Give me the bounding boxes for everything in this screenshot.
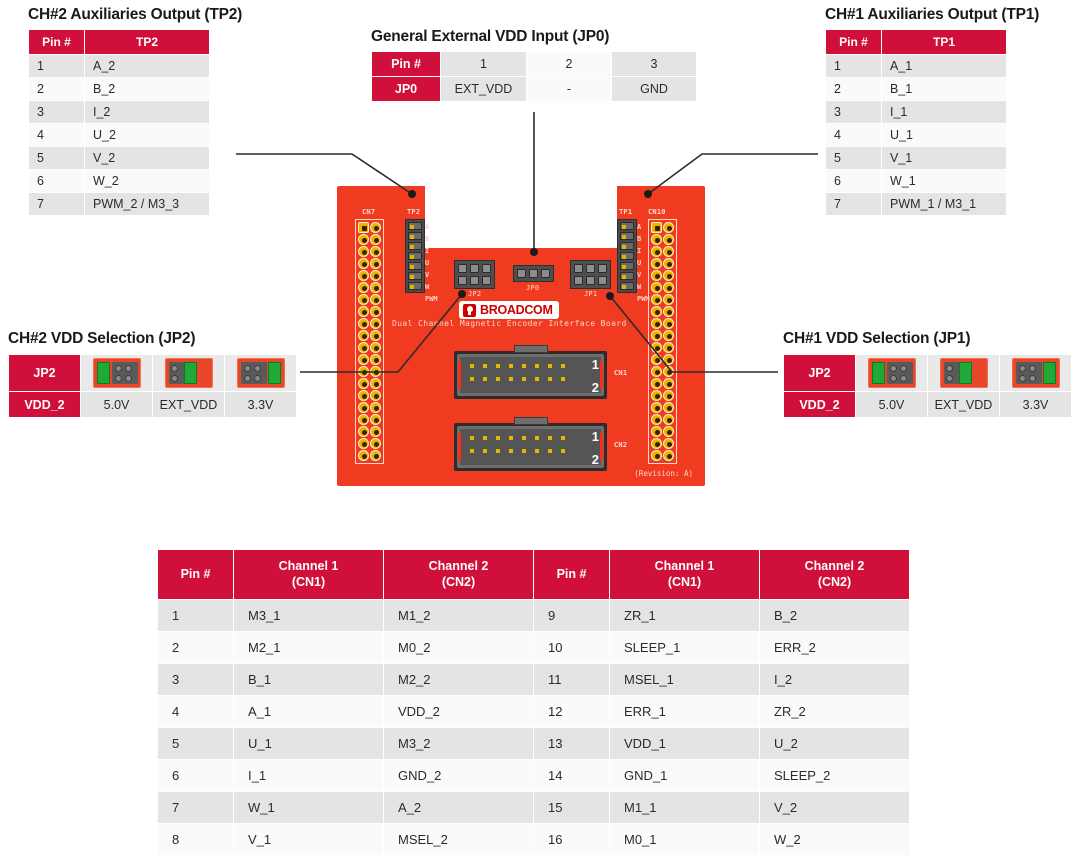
cell-cn1-left: A_1 <box>234 696 384 728</box>
jp2-header <box>454 260 495 289</box>
cell-pin-left: 1 <box>158 600 234 632</box>
col-header-tp2: TP2 <box>85 30 210 55</box>
test-pin <box>620 232 634 240</box>
table-row: 3I_2 <box>29 101 210 124</box>
pin-hole <box>358 438 369 449</box>
pin-hole <box>663 378 674 389</box>
broadcom-wordmark: BROADCOM <box>480 303 553 317</box>
tp1-pin-label: A <box>637 221 650 233</box>
pin <box>548 449 552 453</box>
cell-cn1-left: V_1 <box>234 824 384 856</box>
pin-hole <box>370 330 381 341</box>
jp0-value-row: JP0 EXT_VDD - GND <box>372 77 697 102</box>
pin-hole <box>358 426 369 437</box>
jumper-pin <box>586 264 595 273</box>
pin-hole <box>358 450 369 461</box>
cell-pin-left: 8 <box>158 824 234 856</box>
cell-signal: U_2 <box>85 124 210 147</box>
pin-hole <box>370 294 381 305</box>
header-line2: (CN1) <box>668 575 701 589</box>
ch1-jumper-cell-5v <box>856 355 928 392</box>
table-row: 4 A_1 VDD_2 12 ERR_1 ZR_2 <box>158 696 910 728</box>
jumper-pads <box>241 362 267 384</box>
pin <box>548 364 552 368</box>
ch1-vdd-title: CH#1 VDD Selection (JP1) <box>783 330 1072 348</box>
jumper-pin <box>574 264 583 273</box>
cell-pin: 2 <box>29 78 85 101</box>
pin-hole <box>663 306 674 317</box>
jumper-extvdd-icon <box>165 358 213 388</box>
jp0-pin-row: Pin # 1 2 3 <box>372 52 697 77</box>
cn1-row1-mark: 1 <box>592 357 599 372</box>
pin-hole <box>651 294 662 305</box>
pad <box>125 365 132 372</box>
table-row: 4U_2 <box>29 124 210 147</box>
pin <box>496 436 500 440</box>
table-row: 1A_2 <box>29 55 210 78</box>
col-header-ch1-cn1-left: Channel 1 (CN1) <box>234 550 384 600</box>
pin-hole <box>370 222 381 233</box>
cell-pin-left: 7 <box>158 792 234 824</box>
header-line2: (CN2) <box>442 575 475 589</box>
pin-hole <box>370 342 381 353</box>
pad <box>900 365 907 372</box>
test-pin <box>408 232 422 240</box>
pin-hole <box>663 414 674 425</box>
jumper-pin <box>470 276 479 285</box>
cell-pin: 5 <box>29 147 85 170</box>
cell-cn2-right: B_2 <box>760 600 910 632</box>
silk-label-jp2: JP2 <box>468 290 481 298</box>
cell-pin-right: 14 <box>534 760 610 792</box>
pin-hole <box>370 402 381 413</box>
pin-hole <box>651 222 662 233</box>
pin-hole <box>663 318 674 329</box>
pin-hole <box>358 414 369 425</box>
col-header-ch2-cn2-left: Channel 2 (CN2) <box>384 550 534 600</box>
test-pin <box>620 262 634 270</box>
pin-hole <box>663 246 674 257</box>
ch1-jumper-cell-extvdd <box>928 355 1000 392</box>
table-row: 6 I_1 GND_2 14 GND_1 SLEEP_2 <box>158 760 910 792</box>
col-header-tp1: TP1 <box>882 30 1007 55</box>
pin-hole <box>370 318 381 329</box>
pin-hole <box>370 282 381 293</box>
table-row: 2B_2 <box>29 78 210 101</box>
table-header-row: Pin # Channel 1 (CN1) Channel 2 (CN2) Pi… <box>158 550 910 600</box>
table-row: 7PWM_1 / M3_1 <box>826 193 1007 216</box>
pin <box>561 436 565 440</box>
cell-cn1-left: W_1 <box>234 792 384 824</box>
jumper-shunt <box>184 362 197 384</box>
cell-pin-left: 4 <box>158 696 234 728</box>
cn1-connector: 1 2 <box>454 351 607 399</box>
pin-hole <box>358 342 369 353</box>
pin1-marker <box>458 361 461 389</box>
pin <box>483 364 487 368</box>
cell-cn1-right: ERR_1 <box>610 696 760 728</box>
pin-hole <box>358 402 369 413</box>
cell-pin-left: 2 <box>158 632 234 664</box>
pin-hole <box>370 378 381 389</box>
ch2-vdd-label-row: VDD_2 5.0V EXT_VDD 3.3V <box>9 392 297 418</box>
ch2-vdd-selection-block: CH#2 VDD Selection (JP2) JP2 <box>8 330 297 418</box>
jp1-header <box>570 260 611 289</box>
pin <box>496 449 500 453</box>
jumper-33v-icon <box>1012 358 1060 388</box>
silk-label-tp2: TP2 <box>407 208 420 216</box>
pin-hole <box>663 222 674 233</box>
pin <box>470 449 474 453</box>
ch1-vdd-selection-block: CH#1 VDD Selection (JP1) JP2 <box>783 330 1072 418</box>
test-pin <box>408 262 422 270</box>
cn2-pin-grid <box>466 432 570 458</box>
pin <box>535 364 539 368</box>
col-header-ch2-cn2-right: Channel 2 (CN2) <box>760 550 910 600</box>
cell-cn2-right: U_2 <box>760 728 910 760</box>
table-row: 8 V_1 MSEL_2 16 M0_1 W_2 <box>158 824 910 856</box>
cell-pin: 7 <box>826 193 882 216</box>
pin-hole <box>651 270 662 281</box>
pin-hole <box>358 306 369 317</box>
ch2-vdd-table: JP2 <box>8 354 297 418</box>
table-row: 5V_1 <box>826 147 1007 170</box>
pin-hole <box>663 450 674 461</box>
tp2-pin-label: I <box>425 245 438 257</box>
pad <box>125 375 132 382</box>
test-pin <box>408 272 422 280</box>
pin <box>522 436 526 440</box>
jp0-pin-2: 2 <box>527 52 612 77</box>
table-row: 7 W_1 A_2 15 M1_1 V_2 <box>158 792 910 824</box>
header-line1: Channel 2 <box>805 559 865 573</box>
ch2-jumper-cell-33v <box>225 355 297 392</box>
cell-signal: I_2 <box>85 101 210 124</box>
pin-hole <box>370 306 381 317</box>
silk-label-cn2: CN2 <box>614 441 627 449</box>
cell-cn1-left: M2_1 <box>234 632 384 664</box>
pin-hole <box>651 246 662 257</box>
board-revision: (Revision: A) <box>634 469 693 478</box>
cell-cn1-right: VDD_1 <box>610 728 760 760</box>
cell-cn2-left: A_2 <box>384 792 534 824</box>
ch1-vdd-table: JP2 <box>783 354 1072 418</box>
ch2-vdd-option-33v: 3.3V <box>225 392 297 418</box>
pad <box>1029 365 1036 372</box>
pin <box>548 436 552 440</box>
pin-hole <box>651 438 662 449</box>
cell-cn1-right: M0_1 <box>610 824 760 856</box>
pin <box>522 377 526 381</box>
cell-cn1-right: SLEEP_1 <box>610 632 760 664</box>
jp0-table: Pin # 1 2 3 JP0 EXT_VDD - GND <box>371 51 697 102</box>
pin-hole <box>358 246 369 257</box>
ch1-vdd-option-5v: 5.0V <box>856 392 928 418</box>
pin-hole <box>370 270 381 281</box>
pin-hole <box>651 306 662 317</box>
tp2-pin-labels: A B I U V W PWM <box>425 221 438 305</box>
pin-hole <box>663 294 674 305</box>
tp2-pin-label: W <box>425 281 438 293</box>
cell-cn2-right: V_2 <box>760 792 910 824</box>
cn2-connector: 1 2 <box>454 423 607 471</box>
pin <box>535 377 539 381</box>
pad <box>115 365 122 372</box>
tp1-pin-label: I <box>637 245 650 257</box>
cell-cn2-right: W_2 <box>760 824 910 856</box>
broadcom-logo: BROADCOM <box>459 301 559 319</box>
cell-signal: I_1 <box>882 101 1007 124</box>
cell-pin: 4 <box>826 124 882 147</box>
pin <box>509 364 513 368</box>
jumper-pin <box>458 264 467 273</box>
cell-pin: 7 <box>29 193 85 216</box>
cell-signal: W_1 <box>882 170 1007 193</box>
ch2-jumper-cell-5v <box>81 355 153 392</box>
cn2-row1-mark: 1 <box>592 429 599 444</box>
cell-pin-left: 5 <box>158 728 234 760</box>
silk-label-cn10: CN10 <box>648 208 666 216</box>
jp0-title: General External VDD Input (JP0) <box>371 28 697 46</box>
cell-cn1-left: B_1 <box>234 664 384 696</box>
cell-signal: PWM_2 / M3_3 <box>85 193 210 216</box>
cell-pin-right: 12 <box>534 696 610 728</box>
pin-hole <box>663 438 674 449</box>
cell-cn1-right: ZR_1 <box>610 600 760 632</box>
cell-signal: U_1 <box>882 124 1007 147</box>
pin-hole <box>358 222 369 233</box>
pad <box>890 365 897 372</box>
pad <box>171 365 178 372</box>
jp0-pin-3: 3 <box>612 52 697 77</box>
jumper-pads <box>887 362 913 384</box>
pin <box>483 449 487 453</box>
pin-hole <box>358 282 369 293</box>
cell-signal: V_1 <box>882 147 1007 170</box>
pin <box>522 364 526 368</box>
tp2-pin-label: PWM <box>425 293 438 305</box>
table-row: 5V_2 <box>29 147 210 170</box>
table-row: 4U_1 <box>826 124 1007 147</box>
jumper-pin <box>598 264 607 273</box>
test-pin <box>408 252 422 260</box>
test-pin <box>620 252 634 260</box>
cell-cn2-left: VDD_2 <box>384 696 534 728</box>
pin <box>483 377 487 381</box>
table-row: 7PWM_2 / M3_3 <box>29 193 210 216</box>
pin <box>470 377 474 381</box>
cell-pin: 1 <box>826 55 882 78</box>
pad <box>1019 375 1026 382</box>
pin-hole <box>358 378 369 389</box>
cell-pin: 6 <box>826 170 882 193</box>
pin-hole <box>358 354 369 365</box>
silk-label-cn1: CN1 <box>614 369 627 377</box>
tp1-pin-label: W <box>637 281 650 293</box>
jumper-shunt <box>1043 362 1056 384</box>
pin-hole <box>370 426 381 437</box>
jumper-33v-icon <box>237 358 285 388</box>
table-row: 5 U_1 M3_2 13 VDD_1 U_2 <box>158 728 910 760</box>
cell-cn2-right: ZR_2 <box>760 696 910 728</box>
cell-cn1-right: M1_1 <box>610 792 760 824</box>
jp0-header <box>513 265 554 282</box>
cell-pin: 2 <box>826 78 882 101</box>
table-row: 2B_1 <box>826 78 1007 101</box>
ch1-vdd-row1-label: JP2 <box>784 355 856 392</box>
pin-hole <box>651 366 662 377</box>
pcb-top-notch <box>425 186 617 248</box>
jumper-pads <box>1016 362 1042 384</box>
pin1-marker <box>458 433 461 461</box>
pin-hole <box>663 258 674 269</box>
pad <box>115 375 122 382</box>
col-header-pin: Pin # <box>29 30 85 55</box>
cell-pin-left: 3 <box>158 664 234 696</box>
pin-hole <box>651 330 662 341</box>
test-pin <box>408 282 422 290</box>
header-line2: (CN2) <box>818 575 851 589</box>
cell-signal: W_2 <box>85 170 210 193</box>
jumper-extvdd-icon <box>940 358 988 388</box>
jumper-pin <box>541 269 550 278</box>
cell-cn2-left: M0_2 <box>384 632 534 664</box>
test-pin <box>620 222 634 230</box>
pin-hole <box>651 426 662 437</box>
jumper-pin <box>586 276 595 285</box>
pin-hole <box>663 402 674 413</box>
pad <box>946 365 953 372</box>
ch2-auxiliaries-table-block: CH#2 Auxiliaries Output (TP2) Pin # TP2 … <box>28 6 210 216</box>
pin-hole <box>370 414 381 425</box>
pad <box>890 375 897 382</box>
col-header-pin-left: Pin # <box>158 550 234 600</box>
col-header-pin: Pin # <box>826 30 882 55</box>
pin <box>509 436 513 440</box>
jumper-pin <box>482 264 491 273</box>
jumper-pin <box>458 276 467 285</box>
pin-hole <box>370 258 381 269</box>
ch1-vdd-jumper-row: JP2 <box>784 355 1072 392</box>
jumper-pads <box>112 362 138 384</box>
jumper-5v-icon <box>868 358 916 388</box>
cell-cn2-left: M2_2 <box>384 664 534 696</box>
cell-cn2-left: M1_2 <box>384 600 534 632</box>
table-row: 2 M2_1 M0_2 10 SLEEP_1 ERR_2 <box>158 632 910 664</box>
tp2-pin-label: B <box>425 233 438 245</box>
jumper-pin <box>598 276 607 285</box>
header-line1: Channel 2 <box>429 559 489 573</box>
ch2-vdd-option-5v: 5.0V <box>81 392 153 418</box>
tp1-pin-label: PWM <box>637 293 650 305</box>
pin-hole <box>358 234 369 245</box>
ch1-vdd-row2-label: VDD_2 <box>784 392 856 418</box>
jp0-value-1: EXT_VDD <box>441 77 527 102</box>
cell-pin-right: 15 <box>534 792 610 824</box>
pin-hole <box>370 366 381 377</box>
jumper-shunt <box>97 362 110 384</box>
jumper-shunt <box>872 362 885 384</box>
table-header-row: Pin # TP2 <box>29 30 210 55</box>
col-header-ch1-cn1-right: Channel 1 (CN1) <box>610 550 760 600</box>
jumper-shunt <box>959 362 972 384</box>
test-pin <box>408 222 422 230</box>
cell-signal: V_2 <box>85 147 210 170</box>
ch1-vdd-option-33v: 3.3V <box>1000 392 1072 418</box>
cell-pin-right: 11 <box>534 664 610 696</box>
ch2-jumper-cell-extvdd <box>153 355 225 392</box>
pin-hole <box>651 354 662 365</box>
header-line1: Channel 1 <box>655 559 715 573</box>
pin-hole <box>370 450 381 461</box>
pin-hole <box>358 318 369 329</box>
tp1-pin-label: U <box>637 257 650 269</box>
test-pin <box>408 242 422 250</box>
connector-key <box>514 417 548 425</box>
pin-hole <box>370 438 381 449</box>
tp2-header <box>405 219 425 293</box>
silk-label-tp1: TP1 <box>619 208 632 216</box>
pin <box>561 449 565 453</box>
ch2-vdd-row2-label: VDD_2 <box>9 392 81 418</box>
jumper-pin <box>517 269 526 278</box>
header-line1: Channel 1 <box>279 559 339 573</box>
jumper-5v-icon <box>93 358 141 388</box>
pad <box>1019 365 1026 372</box>
pcb-board-image: CN7 CN10 <box>337 186 705 486</box>
ch1-auxiliaries-table: Pin # TP1 1A_1 2B_1 3I_1 4U_1 5V_1 6W_1 … <box>825 29 1007 216</box>
pin-hole <box>358 390 369 401</box>
silk-label-cn7: CN7 <box>362 208 375 216</box>
pin-hole <box>663 234 674 245</box>
cell-cn1-left: I_1 <box>234 760 384 792</box>
jp0-value-3: GND <box>612 77 697 102</box>
pin-hole <box>358 258 369 269</box>
pin-hole <box>370 246 381 257</box>
pad <box>1029 375 1036 382</box>
pad <box>900 375 907 382</box>
tp2-pin-label: A <box>425 221 438 233</box>
cn7-header <box>355 219 384 464</box>
pin <box>470 364 474 368</box>
cell-pin: 3 <box>826 101 882 124</box>
pin-hole <box>651 234 662 245</box>
cell-signal: B_2 <box>85 78 210 101</box>
pin-hole <box>358 330 369 341</box>
ch2-auxiliaries-title: CH#2 Auxiliaries Output (TP2) <box>28 6 210 24</box>
cell-pin-right: 9 <box>534 600 610 632</box>
jumper-pin <box>574 276 583 285</box>
pad <box>254 365 261 372</box>
tp2-pin-label: U <box>425 257 438 269</box>
jp0-row-label: JP0 <box>372 77 441 102</box>
cn10-header <box>648 219 677 464</box>
cell-cn2-right: I_2 <box>760 664 910 696</box>
pin-hole <box>651 450 662 461</box>
pin-hole <box>358 366 369 377</box>
pin-hole <box>358 294 369 305</box>
cell-pin: 5 <box>826 147 882 170</box>
pin-hole <box>370 234 381 245</box>
cell-pin: 3 <box>29 101 85 124</box>
jumper-pin <box>470 264 479 273</box>
pin <box>509 377 513 381</box>
ch2-auxiliaries-table: Pin # TP2 1A_2 2B_2 3I_2 4U_2 5V_2 6W_2 … <box>28 29 210 216</box>
table-row: 6W_2 <box>29 170 210 193</box>
pin-hole <box>651 390 662 401</box>
cell-signal: B_1 <box>882 78 1007 101</box>
pin-hole <box>651 282 662 293</box>
